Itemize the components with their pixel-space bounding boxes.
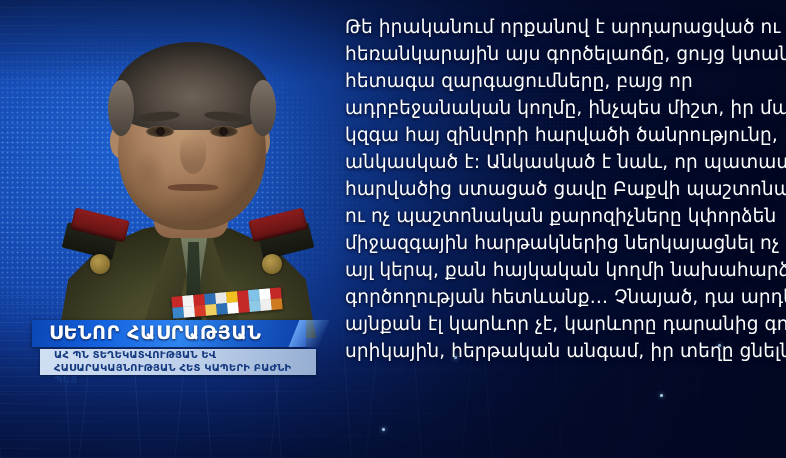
sideburn-left	[108, 80, 134, 136]
title-banner: ԱՀ ՊՆ ՏԵՂԵԿԱՏՎՈՒԹՅԱՆ ԵՎ ՀԱՍԱՐԱԿԱՅՆՈՒԹՅԱՆ…	[40, 349, 316, 375]
cheek-shadow-left	[132, 148, 166, 194]
quote-line: գործողության հետևանք… Չնայած, դա արդեն	[345, 284, 777, 311]
mouth	[168, 184, 218, 191]
branch-insignia-left	[90, 254, 110, 274]
name-banner: ՍԵՆՈՐ ՀԱՍՐԱԹՅԱՆ	[32, 320, 306, 347]
speaker-title: ԱՀ ՊՆ ՏԵՂԵԿԱՏՎՈՒԹՅԱՆ ԵՎ ՀԱՍԱՐԱԿԱՅՆՈՒԹՅԱՆ…	[54, 350, 312, 388]
branch-insignia-right	[262, 254, 282, 274]
quote-line: սրիկային, հերթական անգամ, իր տեղը ցնելն …	[345, 338, 777, 365]
chin-shadow	[158, 194, 226, 228]
hair	[112, 42, 272, 130]
nose	[180, 134, 206, 174]
quote-line: այլ կերպ, քան հայկական կողմի նախահարձակ	[345, 257, 777, 284]
quote-line: հարվածից ստացած ցավը Բաքվի պաշտոնական	[345, 176, 777, 203]
quote-line: ու ոչ պաշտոնական քարոզիչները կփորձեն	[345, 203, 777, 230]
quote-line: հետագա զարգացումները, բայց որ	[345, 68, 777, 95]
quote-line: Թե իրականում որքանով է արդարացված ու	[345, 14, 777, 41]
quote-line: անկասկած է: Անկասկած է նաև, որ պատասխան	[345, 149, 777, 176]
sparkle-dot	[660, 394, 663, 397]
quote-line: միջազգային հարթակներից ներկայացնել ոչ	[345, 230, 777, 257]
sideburn-right	[250, 80, 276, 136]
cheek-shadow-right	[218, 148, 252, 194]
pupil-right	[219, 127, 228, 136]
sparkle-dot	[382, 428, 385, 431]
speaker-portrait	[62, 28, 312, 328]
news-graphic: ՍԵՆՈՐ ՀԱՍՐԱԹՅԱՆ ԱՀ ՊՆ ՏԵՂԵԿԱՏՎՈՒԹՅԱՆ ԵՎ …	[0, 0, 786, 458]
quote-line: այնքան էլ կարևոր չէ, կարևորը դարանից գոր…	[345, 311, 777, 338]
ribbon-swatch	[183, 306, 195, 318]
ribbon-swatch	[271, 298, 283, 310]
quote-line: հեռանկարային այս գործելաոճը, ցույց կտան	[345, 41, 777, 68]
pupil-left	[156, 127, 165, 136]
quote-line: ադրբեջանական կողմը, ինչպես միշտ, իր մաշկ…	[345, 95, 777, 122]
quote-line: կզգա հայ զինվորի հարվածի ծանրությունը,	[345, 122, 777, 149]
quote-text-block: Թե իրականում որքանով է արդարացված ուհեռա…	[345, 14, 777, 365]
speaker-name: ՍԵՆՈՐ ՀԱՍՐԱԹՅԱՆ	[49, 322, 298, 345]
